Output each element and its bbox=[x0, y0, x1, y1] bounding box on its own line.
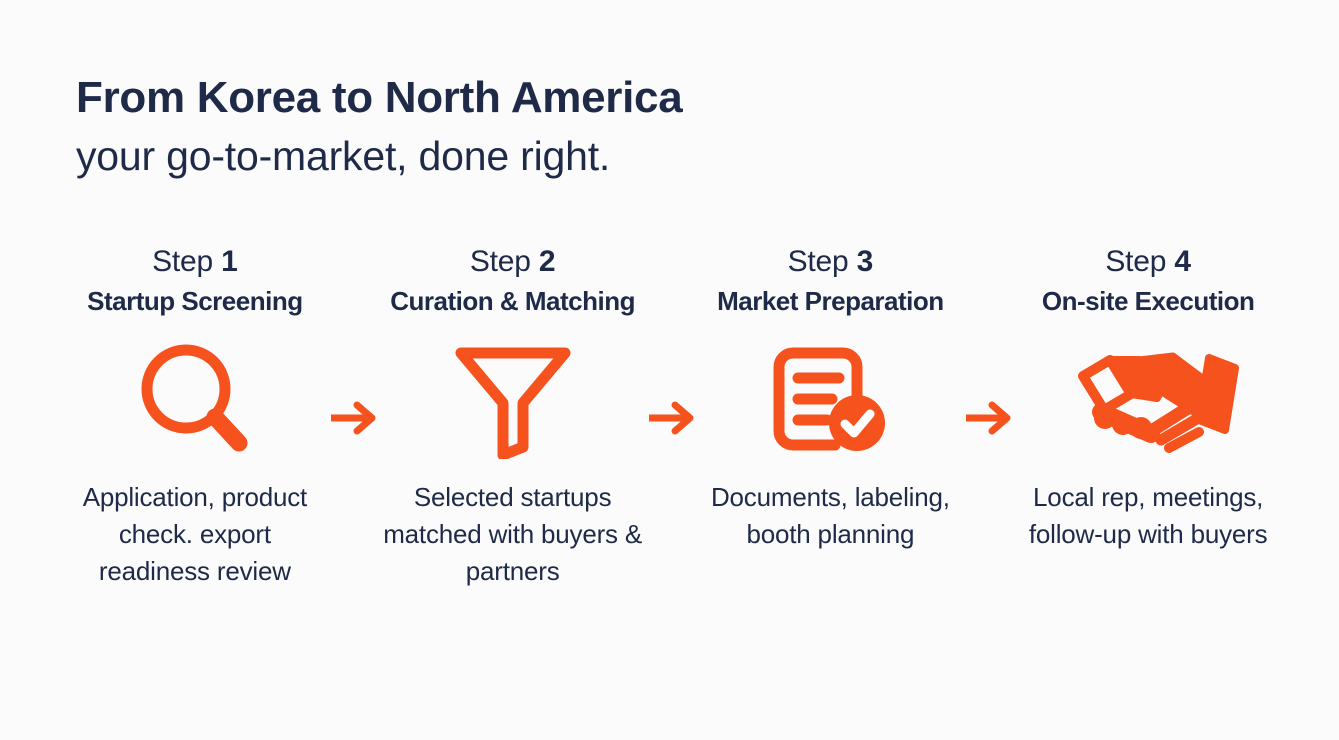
step-1-caption: Application, product check. export readi… bbox=[64, 479, 326, 590]
step-1-number-prefix: Step bbox=[152, 245, 213, 278]
page-title: From Korea to North America your go-to-m… bbox=[76, 72, 1176, 181]
process-steps: Step 1 Startup Screening Application, pr… bbox=[64, 246, 1279, 590]
step-1-number-value: 1 bbox=[221, 245, 238, 278]
step-4: Step 4 On-site Execution bbox=[1017, 246, 1279, 553]
funnel-icon bbox=[451, 335, 575, 465]
step-4-title: On-site Execution bbox=[1042, 287, 1255, 316]
step-2-number: Step 2 bbox=[470, 246, 556, 278]
title-line-1: From Korea to North America bbox=[76, 72, 1176, 124]
arrow-right-icon bbox=[961, 398, 1017, 438]
step-2-title: Curation & Matching bbox=[390, 287, 635, 316]
step-2: Step 2 Curation & Matching Selected star… bbox=[382, 246, 644, 590]
step-1-title: Startup Screening bbox=[87, 287, 302, 316]
step-3-caption: Documents, labeling, booth planning bbox=[700, 479, 962, 553]
slide-canvas: From Korea to North America your go-to-m… bbox=[0, 0, 1339, 740]
step-3-title: Market Preparation bbox=[717, 287, 944, 316]
document-check-icon bbox=[769, 335, 891, 465]
step-3-number-value: 3 bbox=[857, 245, 874, 278]
magnifier-icon bbox=[136, 335, 254, 465]
step-3-number: Step 3 bbox=[788, 246, 874, 278]
step-3-number-prefix: Step bbox=[788, 245, 849, 278]
step-4-number: Step 4 bbox=[1105, 246, 1191, 278]
step-3: Step 3 Market Preparation Documents, lab… bbox=[700, 246, 962, 553]
step-4-number-value: 4 bbox=[1174, 245, 1191, 278]
step-1-number: Step 1 bbox=[152, 246, 238, 278]
arrow-right-icon bbox=[644, 398, 700, 438]
step-2-number-value: 2 bbox=[539, 245, 556, 278]
step-4-caption: Local rep, meetings, follow-up with buye… bbox=[1017, 479, 1279, 553]
arrow-right-icon bbox=[326, 398, 382, 438]
title-line-2: your go-to-market, done right. bbox=[76, 132, 1176, 181]
handshake-icon bbox=[1053, 335, 1243, 465]
step-4-number-prefix: Step bbox=[1105, 245, 1166, 278]
step-1: Step 1 Startup Screening Application, pr… bbox=[64, 246, 326, 590]
step-2-caption: Selected startups matched with buyers & … bbox=[382, 479, 644, 590]
step-2-number-prefix: Step bbox=[470, 245, 531, 278]
